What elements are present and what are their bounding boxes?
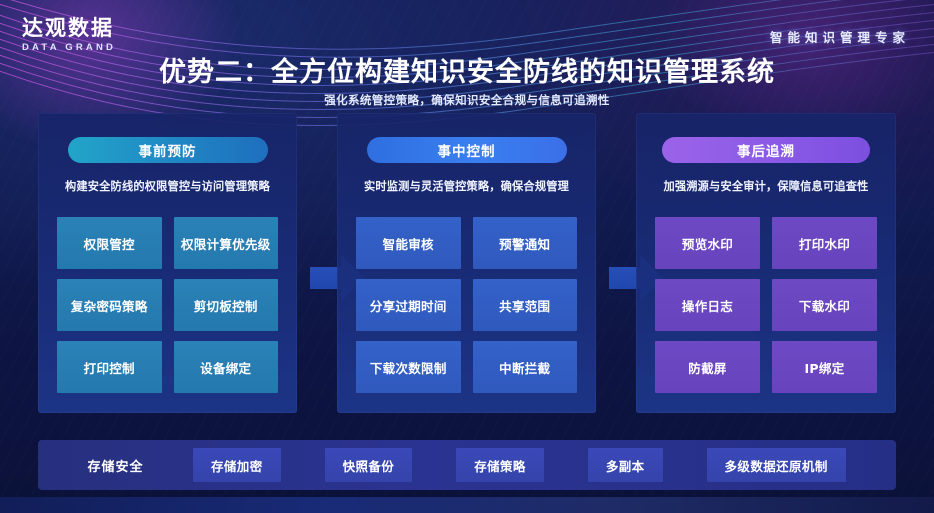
feature-cell[interactable]: 打印控制 bbox=[57, 341, 162, 393]
feature-cell[interactable]: 操作日志 bbox=[655, 279, 760, 331]
column-title-control: 事中控制 bbox=[367, 137, 567, 163]
feature-cell[interactable]: 复杂密码策略 bbox=[57, 279, 162, 331]
footer-strip bbox=[0, 497, 934, 513]
column-prevention: 事前预防 构建安全防线的权限管控与访问管理策略 权限管控 权限计算优先级 复杂密… bbox=[38, 113, 297, 413]
feature-grid-prevention: 权限管控 权限计算优先级 复杂密码策略 剪切板控制 打印控制 设备绑定 bbox=[57, 217, 278, 393]
brand-tagline: 智能知识管理专家 bbox=[770, 27, 910, 46]
feature-cell[interactable]: 预览水印 bbox=[655, 217, 760, 269]
column-desc-prevention: 构建安全防线的权限管控与访问管理策略 bbox=[46, 178, 289, 194]
brand-logo: 达观数据 DATA GRAND bbox=[22, 16, 116, 53]
page-title: 优势二：全方位构建知识安全防线的知识管理系统 bbox=[0, 50, 934, 89]
page-subtitle: 强化系统管控策略，确保知识安全合规与信息可追溯性 bbox=[0, 92, 934, 108]
feature-cell[interactable]: 剪切板控制 bbox=[174, 279, 279, 331]
feature-cell[interactable]: IP绑定 bbox=[772, 341, 877, 393]
feature-cell[interactable]: 预警通知 bbox=[473, 217, 578, 269]
storage-tag-list: 存储加密 快照备份 存储策略 多副本 多级数据还原机制 bbox=[193, 448, 846, 482]
storage-tag[interactable]: 多级数据还原机制 bbox=[707, 448, 846, 482]
feature-cell[interactable]: 权限计算优先级 bbox=[174, 217, 279, 269]
storage-tag[interactable]: 快照备份 bbox=[325, 448, 413, 482]
feature-cell[interactable]: 下载次数限制 bbox=[356, 341, 461, 393]
column-control: 事中控制 实时监测与灵活管控策略，确保合规管理 智能审核 预警通知 分享过期时间… bbox=[337, 113, 596, 413]
feature-cell[interactable]: 防截屏 bbox=[655, 341, 760, 393]
feature-cell[interactable]: 下载水印 bbox=[772, 279, 877, 331]
storage-tag[interactable]: 存储加密 bbox=[193, 448, 281, 482]
feature-cell[interactable]: 设备绑定 bbox=[174, 341, 279, 393]
feature-cell[interactable]: 分享过期时间 bbox=[356, 279, 461, 331]
feature-cell[interactable]: 权限管控 bbox=[57, 217, 162, 269]
feature-cell[interactable]: 中断拦截 bbox=[473, 341, 578, 393]
brand-logo-cn: 达观数据 bbox=[22, 16, 116, 40]
storage-tag[interactable]: 多副本 bbox=[588, 448, 663, 482]
feature-cell[interactable]: 共享范围 bbox=[473, 279, 578, 331]
slide-canvas: 达观数据 DATA GRAND 智能知识管理专家 优势二：全方位构建知识安全防线… bbox=[0, 0, 934, 513]
storage-tag[interactable]: 存储策略 bbox=[456, 448, 544, 482]
feature-cell[interactable]: 打印水印 bbox=[772, 217, 877, 269]
storage-security-bar: 存储安全 存储加密 快照备份 存储策略 多副本 多级数据还原机制 bbox=[38, 440, 896, 490]
feature-grid-traceability: 预览水印 打印水印 操作日志 下载水印 防截屏 IP绑定 bbox=[655, 217, 877, 393]
feature-cell[interactable]: 智能审核 bbox=[356, 217, 461, 269]
column-title-traceability: 事后追溯 bbox=[662, 137, 870, 163]
columns-container: 事前预防 构建安全防线的权限管控与访问管理策略 权限管控 权限计算优先级 复杂密… bbox=[38, 113, 896, 413]
column-title-prevention: 事前预防 bbox=[68, 137, 268, 163]
column-desc-control: 实时监测与灵活管控策略，确保合规管理 bbox=[345, 178, 588, 194]
storage-security-label: 存储安全 bbox=[38, 456, 193, 475]
column-traceability: 事后追溯 加强溯源与安全审计，保障信息可追查性 预览水印 打印水印 操作日志 下… bbox=[636, 113, 896, 413]
column-desc-traceability: 加强溯源与安全审计，保障信息可追查性 bbox=[644, 178, 888, 194]
feature-grid-control: 智能审核 预警通知 分享过期时间 共享范围 下载次数限制 中断拦截 bbox=[356, 217, 577, 393]
